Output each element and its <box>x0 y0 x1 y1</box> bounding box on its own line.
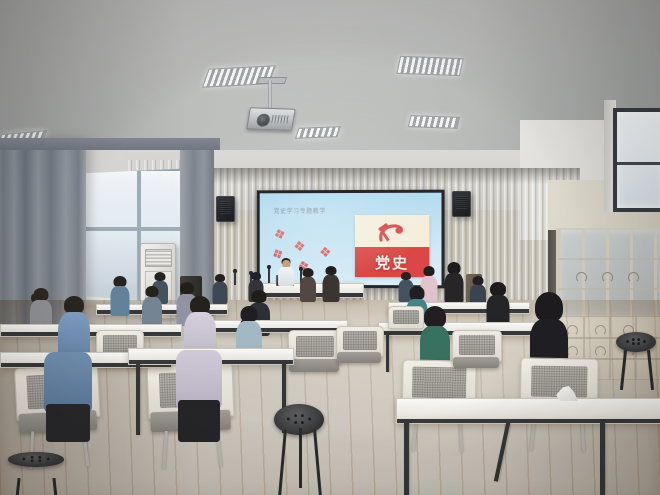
stool[interactable] <box>8 452 64 495</box>
audience-member <box>322 266 339 302</box>
cabinet-handle[interactable] <box>628 272 639 283</box>
torso <box>444 273 463 304</box>
chair-mesh <box>393 310 418 324</box>
stool-seat <box>276 412 320 439</box>
chair-mesh <box>343 331 377 350</box>
right-window <box>613 108 660 212</box>
cabinet-handle[interactable] <box>576 272 587 283</box>
training-table <box>396 398 660 424</box>
audience-member <box>444 262 463 304</box>
slide-title: 党史学习专题教学 <box>274 206 326 215</box>
hair <box>473 276 484 285</box>
microphone-icon <box>268 268 270 283</box>
window-mullion-horizontal <box>77 227 193 231</box>
hair <box>401 272 411 280</box>
legs <box>46 404 90 442</box>
ceiling-light-fixture <box>396 56 463 76</box>
right-window-mullion <box>617 162 660 165</box>
banner-text: 党史 <box>355 252 429 273</box>
hair <box>424 306 446 328</box>
table-edge <box>397 419 660 423</box>
hair <box>535 292 563 322</box>
cabinet-handle[interactable] <box>602 272 613 283</box>
projector-lens <box>256 114 271 127</box>
hair <box>215 274 225 282</box>
audience-member <box>44 352 92 442</box>
presenter <box>278 258 294 286</box>
cpc-hammer-sickle-emblem <box>375 221 409 245</box>
hair <box>325 266 336 275</box>
dove-icon: ❖ <box>292 238 306 254</box>
projector-ceiling-plate <box>257 77 287 84</box>
hair <box>490 282 506 296</box>
table-leg <box>136 363 140 435</box>
chair-seat <box>453 357 499 369</box>
stool-seat <box>616 332 656 352</box>
audience-member <box>110 276 129 316</box>
hair <box>303 268 314 277</box>
hair <box>251 272 261 280</box>
curtain-rail <box>0 138 220 150</box>
stool-leg <box>647 350 654 390</box>
training-table <box>0 324 182 337</box>
chair[interactable] <box>388 306 422 340</box>
torso <box>278 267 294 286</box>
torso <box>44 352 92 412</box>
table-leg <box>404 422 409 495</box>
speaker-icon <box>452 191 471 217</box>
cabinet-shelf <box>558 258 660 260</box>
hair <box>155 272 166 281</box>
stool-leg <box>620 350 627 390</box>
audience-member <box>300 268 316 302</box>
chair[interactable] <box>452 330 500 378</box>
cabinet-shelf <box>558 288 660 290</box>
chair-mesh <box>459 335 495 355</box>
table-edge <box>1 332 181 336</box>
chair[interactable] <box>336 326 382 372</box>
stool-seat <box>8 452 64 467</box>
projector-drop-pole <box>268 80 272 110</box>
hair <box>423 266 434 276</box>
torso <box>110 286 129 316</box>
microphone-icon <box>234 272 236 285</box>
ceiling-light-fixture <box>295 126 341 138</box>
ac-grille <box>145 249 172 267</box>
hair <box>180 282 194 294</box>
ceiling-light-fixture <box>408 115 461 129</box>
speaker-icon <box>216 196 235 222</box>
hair <box>252 290 267 303</box>
chair-seat <box>337 352 381 363</box>
stool[interactable] <box>616 332 656 390</box>
chair-mesh <box>296 336 334 357</box>
projector-icon <box>246 107 296 131</box>
stool-leg <box>52 478 58 495</box>
legs <box>178 400 220 442</box>
chair-backrest <box>388 306 424 329</box>
chair-seat <box>289 359 339 371</box>
torso <box>322 275 339 302</box>
projector-vent <box>271 115 288 124</box>
audience-member <box>176 350 222 442</box>
dove-icon: ❖ <box>319 245 332 260</box>
dove-icon: ❖ <box>272 225 288 242</box>
hair <box>146 286 159 297</box>
table-leg <box>600 422 605 495</box>
audience-member <box>142 286 162 328</box>
torso <box>300 277 316 302</box>
chair[interactable] <box>288 330 340 382</box>
party-history-banner: 党史 <box>355 215 429 277</box>
stool-leg <box>14 478 20 495</box>
classroom-photo: 党史学习专题教学 ❖ ❖ ❖ ❖ ❖ 党史 <box>0 0 660 495</box>
